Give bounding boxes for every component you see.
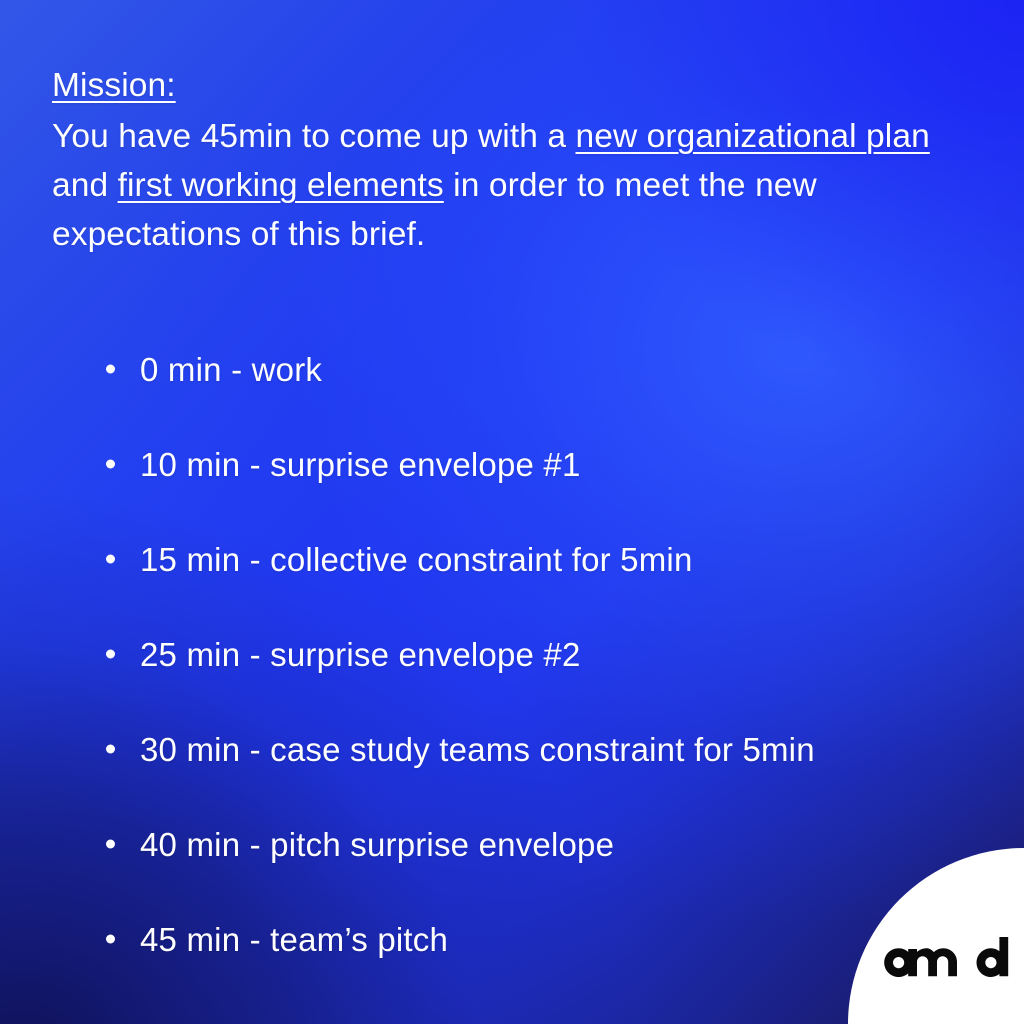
- bullet-icon: [106, 365, 115, 374]
- mission-block: Mission: You have 45min to come up with …: [52, 62, 957, 260]
- mission-heading: Mission:: [52, 62, 957, 111]
- list-item: 45 min - team’s pitch: [98, 892, 972, 987]
- list-item: 15 min - collective constraint for 5min: [98, 512, 972, 607]
- mission-text-segment: and: [52, 167, 118, 204]
- slide-content: Mission: You have 45min to come up with …: [0, 0, 1024, 1024]
- list-item: 30 min - case study teams constraint for…: [98, 702, 972, 797]
- list-item-label: 30 min - case study teams constraint for…: [140, 733, 815, 766]
- list-item-label: 0 min - work: [140, 353, 322, 386]
- mission-underlined-phrase-2: first working elements: [118, 167, 444, 204]
- bullet-icon: [106, 555, 115, 564]
- bullet-icon: [106, 935, 115, 944]
- list-item-label: 15 min - collective constraint for 5min: [140, 543, 693, 576]
- list-item: 0 min - work: [98, 322, 972, 417]
- slide-canvas: Mission: You have 45min to come up with …: [0, 0, 1024, 1024]
- mission-body: You have 45min to come up with a new org…: [52, 113, 957, 260]
- bullet-icon: [106, 460, 115, 469]
- list-item: 25 min - surprise envelope #2: [98, 607, 972, 702]
- mission-text-segment: You have 45min to come up with a: [52, 118, 576, 155]
- list-item-label: 25 min - surprise envelope #2: [140, 638, 581, 671]
- mission-underlined-phrase-1: new organizational plan: [576, 118, 930, 155]
- list-item-label: 10 min - surprise envelope #1: [140, 448, 581, 481]
- bullet-icon: [106, 650, 115, 659]
- list-item: 10 min - surprise envelope #1: [98, 417, 972, 512]
- list-item: 40 min - pitch surprise envelope: [98, 797, 972, 892]
- omd-logo-icon: [881, 937, 1009, 981]
- agenda-list: 0 min - work 10 min - surprise envelope …: [52, 322, 972, 987]
- list-item-label: 45 min - team’s pitch: [140, 923, 448, 956]
- bullet-icon: [106, 840, 115, 849]
- bullet-icon: [106, 745, 115, 754]
- list-item-label: 40 min - pitch surprise envelope: [140, 828, 614, 861]
